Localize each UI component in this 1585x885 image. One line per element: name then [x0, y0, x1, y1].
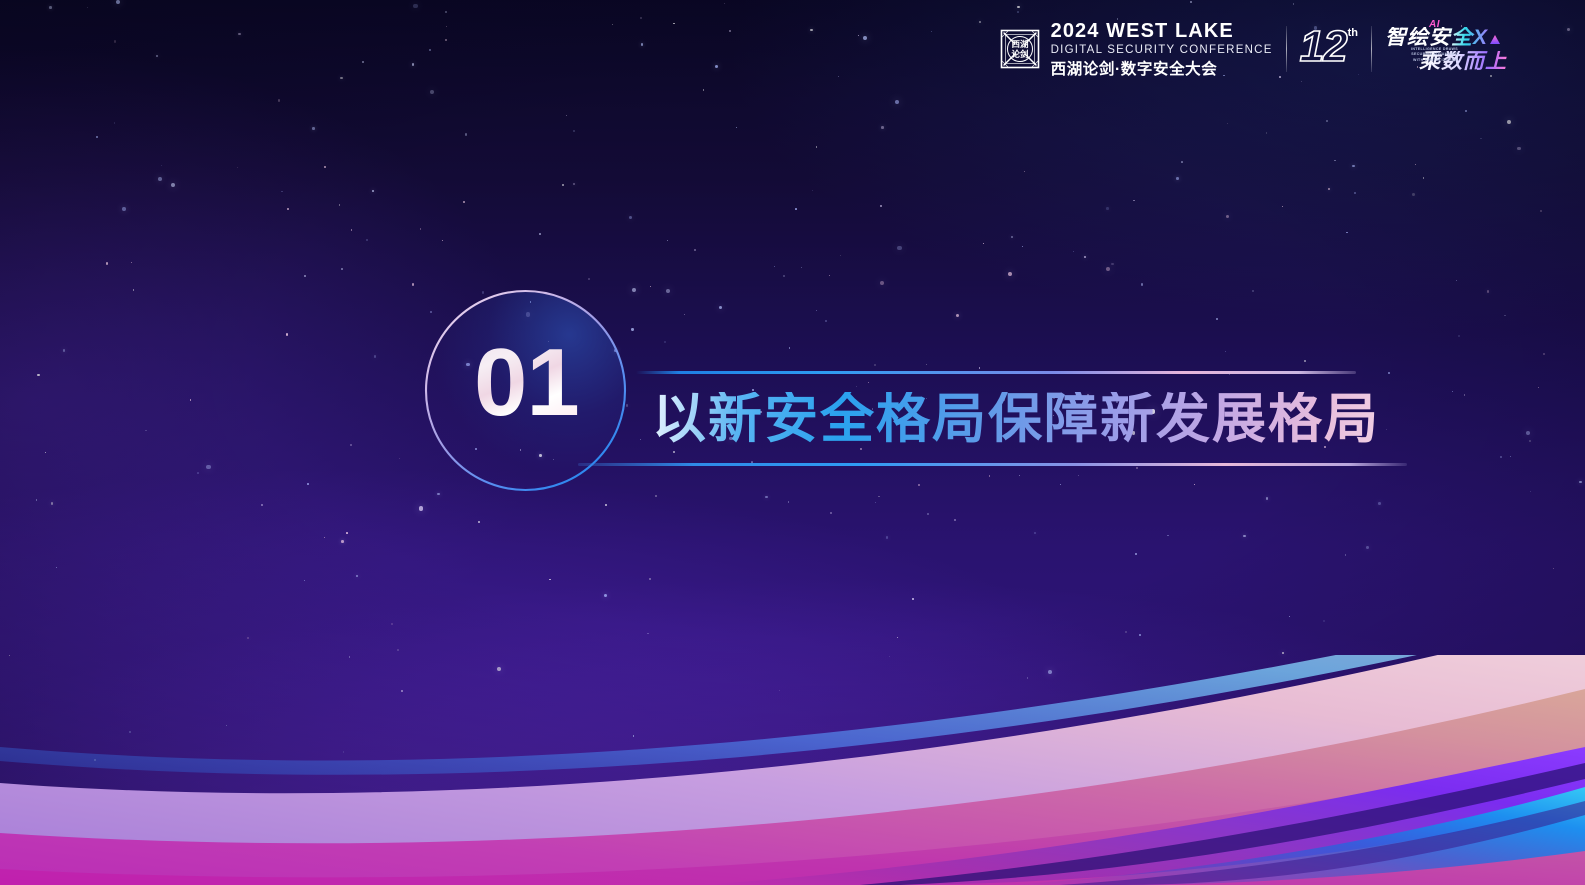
slide-canvas: 01 以新安全格局保障新发展格局 西湖 论剑	[0, 0, 1585, 885]
edition-suffix: th	[1348, 27, 1358, 39]
west-lake-sword-emblem-icon: 西湖 论剑	[998, 27, 1042, 71]
slogan-lockup: 智绘安全X 乘数而上 AI INTELLIGENCE DRAWS SECURIT…	[1385, 21, 1507, 77]
conference-name-en-primary: 2024 WEST LAKE	[1051, 21, 1273, 41]
svg-text:西湖: 西湖	[1011, 39, 1029, 50]
conference-name-en-secondary: DIGITAL SECURITY CONFERENCE	[1051, 45, 1273, 57]
svg-text:论剑: 论剑	[1011, 49, 1028, 60]
section-number: 01	[474, 335, 634, 431]
edition-number: 12	[1300, 26, 1347, 68]
section-number-circle: 01	[424, 289, 627, 492]
up-arrow-icon	[1489, 33, 1501, 67]
logo-divider-2	[1371, 26, 1372, 72]
slogan-ai-badge: AI	[1429, 19, 1440, 30]
conference-name-zh: 西湖论剑·数字安全大会	[1051, 62, 1273, 78]
logo-divider-1	[1286, 26, 1287, 72]
conference-name-block: 2024 WEST LAKE DIGITAL SECURITY CONFEREN…	[1051, 21, 1273, 77]
edition-badge: 12 th	[1300, 26, 1358, 72]
page-title: 以新安全格局保障新发展格局	[652, 392, 1380, 446]
conference-logo-lockup[interactable]: 西湖 论剑 2024 WEST LAKE DIGITAL SECURITY CO…	[998, 20, 1507, 78]
slogan-english-subtext: INTELLIGENCE DRAWS SECURITY ADVANCING WI…	[1400, 47, 1458, 63]
